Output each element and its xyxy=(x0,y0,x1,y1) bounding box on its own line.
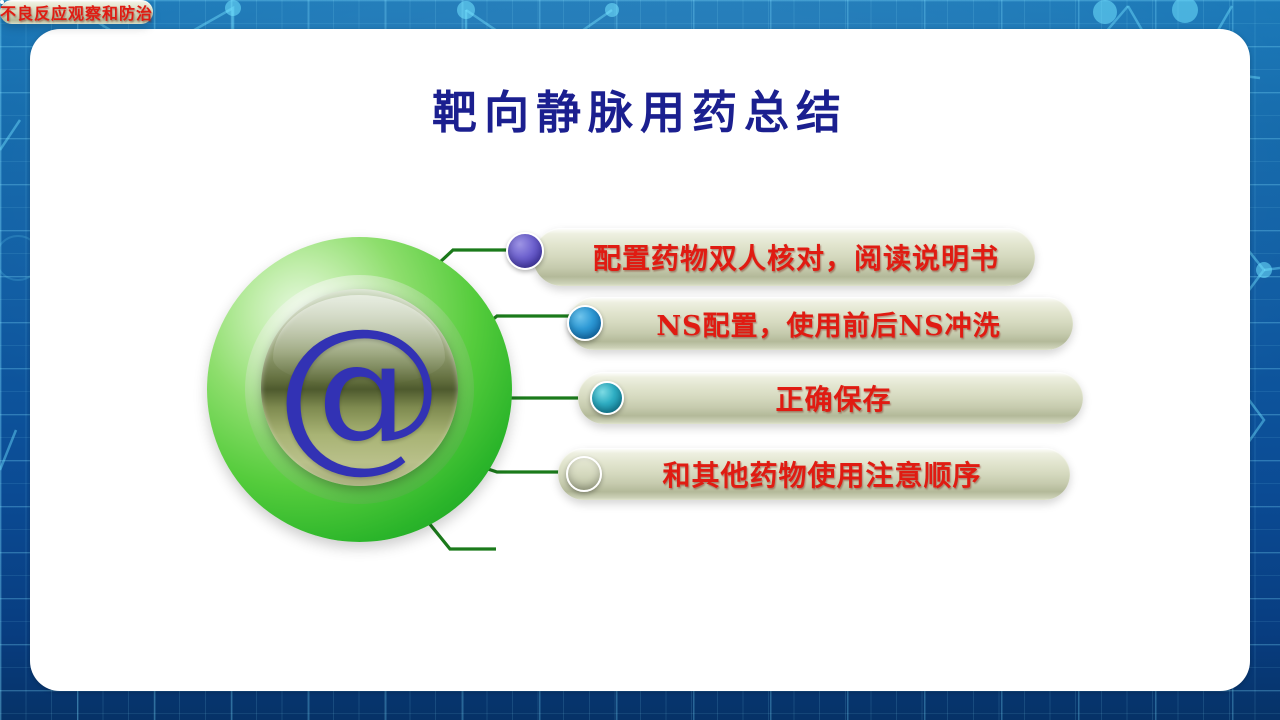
list-item[interactable]: 和其他药物使用注意顺序 xyxy=(558,448,1070,500)
list-item-label: 不良反应观察和防治 xyxy=(0,0,153,24)
list-item-label: 和其他药物使用注意顺序 xyxy=(558,454,1070,494)
bullet-dot-5[interactable] xyxy=(0,0,4,4)
bullet-dot-2[interactable] xyxy=(567,305,603,341)
list-item[interactable]: NS配置，使用前后NS冲洗 xyxy=(568,297,1073,350)
bullet-dot-3[interactable] xyxy=(590,381,624,415)
bullet-dot-1[interactable] xyxy=(506,232,544,270)
bullet-dot-4[interactable] xyxy=(566,456,602,492)
list-item-label: NS配置，使用前后NS冲洗 xyxy=(568,304,1073,343)
list-item[interactable]: 正确保存 xyxy=(578,372,1083,424)
slide-root: 靶向静脉用药总结 @ 配置药物双人核对，阅读说明书 NS配置，使用前后NS冲洗 … xyxy=(0,0,1280,720)
list-item[interactable]: 不良反应观察和防治 xyxy=(0,0,153,24)
hub-sphere: @ xyxy=(207,237,512,542)
list-item-label: 配置药物双人核对，阅读说明书 xyxy=(533,237,1035,277)
list-item[interactable]: 配置药物双人核对，阅读说明书 xyxy=(533,228,1035,286)
list-item-label: 正确保存 xyxy=(578,378,1083,418)
at-symbol-icon: @ xyxy=(207,237,512,542)
page-title: 靶向静脉用药总结 xyxy=(0,76,1280,141)
